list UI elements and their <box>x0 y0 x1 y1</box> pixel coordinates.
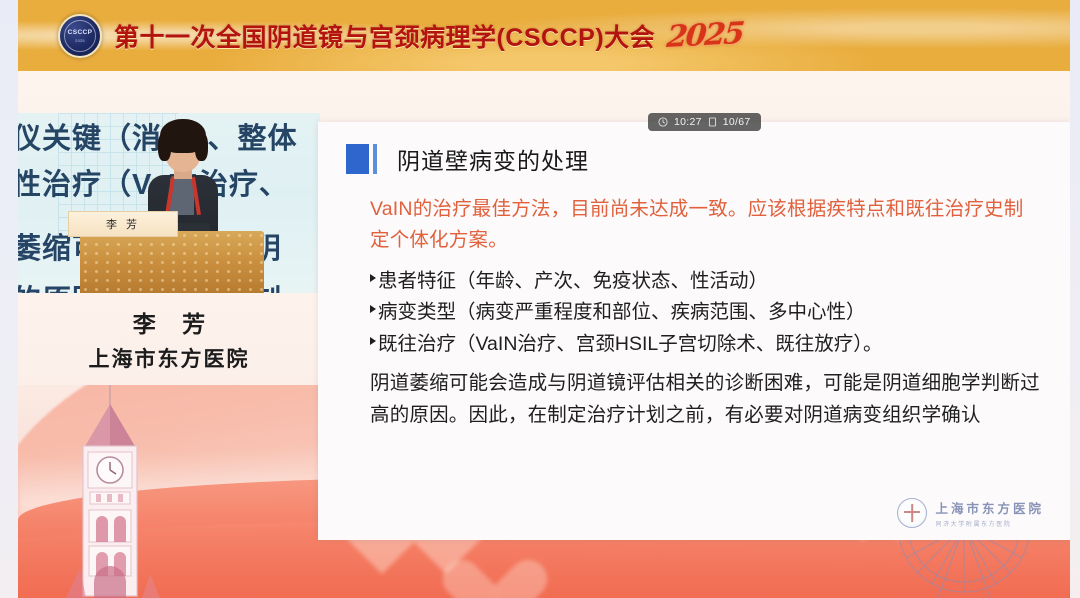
csccp-logo-sub: 2025 <box>60 38 100 43</box>
speaker-name: 李 芳 <box>123 305 215 339</box>
csccp-logo-text: CSCCP <box>60 29 100 36</box>
slide-card: 阴道壁病变的处理 VaIN的治疗最佳方法，目前尚未达成一致。应该根据疾特点和既往… <box>318 122 1070 540</box>
slide-body: VaIN的治疗最佳方法，目前尚未达成一致。应该根据疾特点和既往治疗史制定个体化方… <box>318 176 1070 431</box>
page-edge-left <box>0 0 18 598</box>
slide-bullet-item: 患者特征（年龄、产次、免疫状态、性活动） <box>370 266 1040 298</box>
slide-bullet-list: 患者特征（年龄、产次、免疫状态、性活动） 病变类型（病变严重程度和部位、疾病范围… <box>370 266 1040 361</box>
screen-root: CSCCP 2025 第十一次全国阴道镜与宫颈病理学(CSCCP)大会 2025… <box>0 0 1080 598</box>
speaker-name-card: 李 芳 上海市东方医院 <box>18 293 320 385</box>
podium-nameplate: 李 芳 <box>68 211 178 237</box>
slide-black-paragraph: 阴道萎缩可能会造成与阴道镜评估相关的诊断困难，可能是阴道细胞学判断过高的原因。因… <box>370 368 1040 431</box>
triangle-bullet-icon <box>370 305 376 313</box>
page-edge-right <box>1070 0 1080 598</box>
hospital-watermark: 上海市东方医院 同济大学附属东方医院 <box>897 498 1044 528</box>
triangle-bullet-icon <box>370 274 376 282</box>
slide-red-paragraph: VaIN的治疗最佳方法，目前尚未达成一致。应该根据疾特点和既往治疗史制定个体化方… <box>370 194 1040 256</box>
banner-year: 2025 <box>665 16 744 55</box>
csccp-logo-icon: CSCCP 2025 <box>58 14 102 58</box>
slide-bullet-text: 病变类型（病变严重程度和部位、疾病范围、多中心性） <box>378 297 866 329</box>
clock-tower-icon <box>56 382 164 598</box>
conference-banner: CSCCP 2025 第十一次全国阴道镜与宫颈病理学(CSCCP)大会 2025 <box>18 0 1070 71</box>
podium-nameplate-text: 李 芳 <box>106 216 140 232</box>
heart-shape <box>458 562 532 598</box>
slide-title: 阴道壁病变的处理 <box>397 142 589 176</box>
accent-bar-icon <box>373 144 377 174</box>
banner-title: 第十一次全国阴道镜与宫颈病理学(CSCCP)大会 <box>114 18 655 54</box>
clock-icon <box>658 117 668 127</box>
slide-bullet-item: 既往治疗（VaIN治疗、宫颈HSIL子宫切除术、既往放疗）。 <box>370 329 1040 361</box>
triangle-bullet-icon <box>370 337 376 345</box>
hospital-name: 上海市东方医院 <box>935 498 1044 517</box>
hospital-subname: 同济大学附属东方医院 <box>935 519 1044 528</box>
speaker-organization: 上海市东方医院 <box>89 343 250 373</box>
podium <box>80 231 264 293</box>
slide-bullet-text: 患者特征（年龄、产次、免疫状态、性活动） <box>378 266 768 298</box>
slide-bullet-item: 病变类型（病变严重程度和部位、疾病范围、多中心性） <box>370 297 1040 329</box>
page-icon <box>708 117 717 127</box>
badge-time: 10:27 <box>674 116 702 128</box>
speaker-video[interactable]: 仪关键（消炎）、整体 性治疗（VaIN治疗、 萎缩可能会造成与阴 的原因。因此，… <box>18 113 320 293</box>
accent-block-icon <box>346 144 369 174</box>
badge-page: 10/67 <box>723 116 751 128</box>
slide-bullet-text: 既往治疗（VaIN治疗、宫颈HSIL子宫切除术、既往放疗）。 <box>378 329 883 361</box>
playback-status-badge: 10:27 10/67 <box>648 113 761 131</box>
hospital-logo-icon <box>897 498 927 528</box>
